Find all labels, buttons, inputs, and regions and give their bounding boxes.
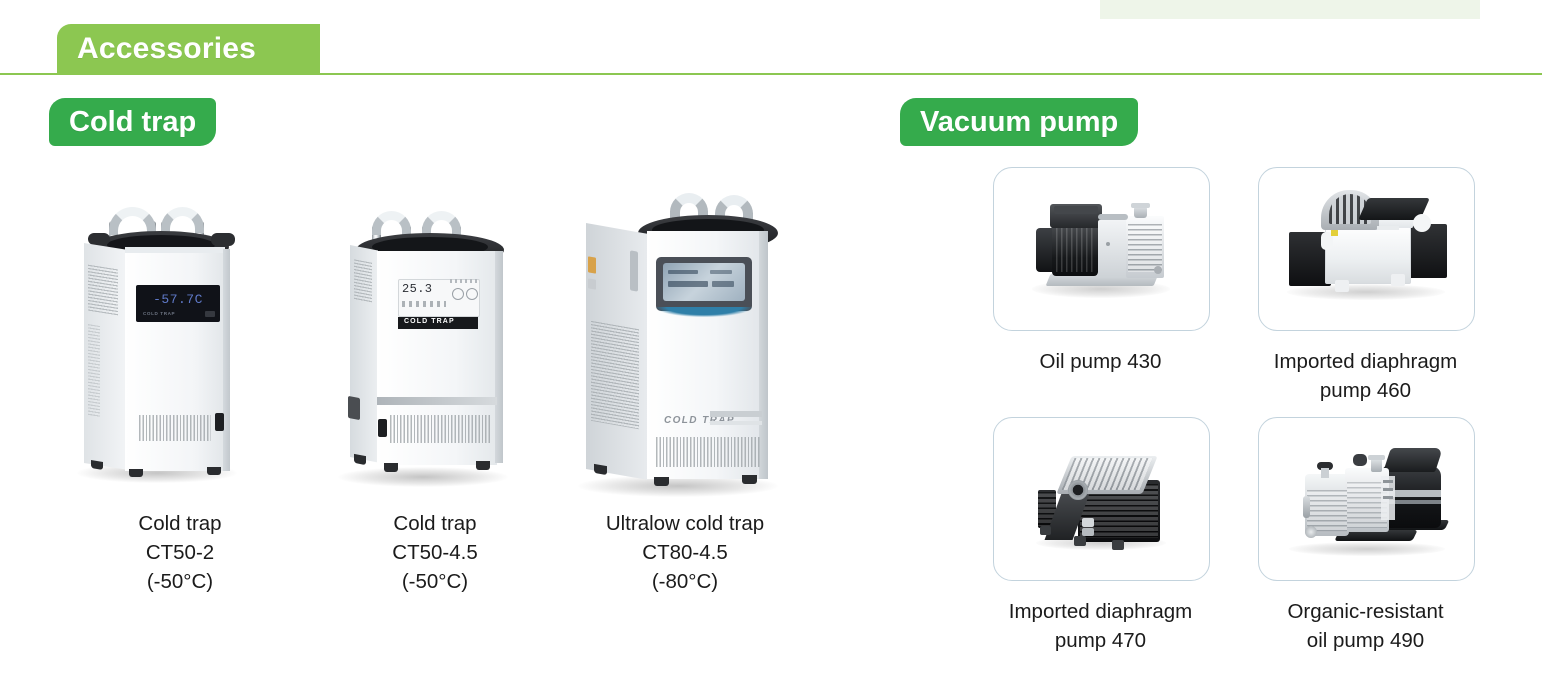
vacuum-pump-card-1[interactable] bbox=[1258, 167, 1475, 331]
cold-trap-product-group: -57.7C COLD TRAP Cold trap CT50-2 (-50°C… bbox=[30, 175, 840, 615]
cold-trap-2-name: Ultralow cold trap bbox=[560, 509, 810, 538]
vacuum-pump-0-line1: Oil pump 430 bbox=[993, 347, 1208, 376]
cold-trap-0-temp: (-50°C) bbox=[55, 567, 305, 596]
section-pill-vacuum-pump-label: Vacuum pump bbox=[920, 106, 1118, 139]
vacuum-pump-3-line2: oil pump 490 bbox=[1258, 626, 1473, 655]
cold-trap-product-0-caption: Cold trap CT50-2 (-50°C) bbox=[55, 509, 305, 596]
cold-trap-product-2[interactable]: COLD TRAP Ultralow cold trap CT80-4.5 (-… bbox=[560, 175, 810, 615]
vacuum-pump-2-line2: pump 470 bbox=[993, 626, 1208, 655]
vacuum-pump-3-line1: Organic-resistant bbox=[1258, 597, 1473, 626]
vacuum-pump-card-3[interactable] bbox=[1258, 417, 1475, 581]
cold-trap-0-display: -57.7C bbox=[140, 289, 216, 309]
section-pill-cold-trap-label: Cold trap bbox=[69, 106, 196, 139]
vacuum-pump-1-line2: pump 460 bbox=[1258, 376, 1473, 405]
cold-trap-1-name: Cold trap bbox=[310, 509, 560, 538]
vacuum-pump-product-2[interactable]: Imported diaphragm pump 470 bbox=[993, 417, 1208, 655]
vacuum-pump-product-1[interactable]: Imported diaphragm pump 460 bbox=[1258, 167, 1473, 405]
organic-resistant-oil-pump-icon bbox=[1259, 418, 1474, 580]
cold-trap-0-model: CT50-2 bbox=[55, 538, 305, 567]
vacuum-pump-product-0-caption: Oil pump 430 bbox=[993, 347, 1208, 376]
accessories-banner: Accessories bbox=[57, 24, 320, 74]
cold-trap-0-name: Cold trap bbox=[55, 509, 305, 538]
vacuum-pump-product-3-caption: Organic-resistant oil pump 490 bbox=[1258, 597, 1473, 655]
vacuum-pump-1-line1: Imported diaphragm bbox=[1258, 347, 1473, 376]
vacuum-pump-card-2[interactable] bbox=[993, 417, 1210, 581]
accessories-title: Accessories bbox=[77, 32, 256, 66]
cold-trap-product-2-caption: Ultralow cold trap CT80-4.5 (-80°C) bbox=[560, 509, 810, 596]
cold-trap-compact-icon: -57.7C COLD TRAP bbox=[55, 175, 305, 505]
cold-trap-0-brand: COLD TRAP bbox=[143, 311, 175, 316]
cold-trap-ultralow-icon: COLD TRAP bbox=[560, 175, 810, 505]
diaphragm-pump-finned-icon bbox=[994, 418, 1209, 580]
cold-trap-1-display: 25.3 bbox=[402, 282, 448, 299]
vacuum-pump-product-2-caption: Imported diaphragm pump 470 bbox=[993, 597, 1208, 655]
cold-trap-1-brand: COLD TRAP bbox=[404, 318, 455, 325]
vacuum-pump-product-0[interactable]: Oil pump 430 bbox=[993, 167, 1208, 376]
cold-trap-product-1-caption: Cold trap CT50-4.5 (-50°C) bbox=[310, 509, 560, 596]
section-pill-vacuum-pump: Vacuum pump bbox=[900, 98, 1138, 146]
cold-trap-2-model: CT80-4.5 bbox=[560, 538, 810, 567]
diaphragm-pump-wide-icon bbox=[1259, 168, 1474, 330]
cold-trap-1-model: CT50-4.5 bbox=[310, 538, 560, 567]
rotary-vane-oil-pump-icon bbox=[994, 168, 1209, 330]
vacuum-pump-product-grid: Oil pump 430 bbox=[993, 167, 1483, 647]
cold-trap-product-1[interactable]: 25.3 COLD TRAP Cold trap CT50-4.5 (-50°C… bbox=[310, 175, 560, 615]
vacuum-pump-product-3[interactable]: Organic-resistant oil pump 490 bbox=[1258, 417, 1473, 655]
top-decorative-band bbox=[1100, 0, 1480, 19]
cold-trap-1-temp: (-50°C) bbox=[310, 567, 560, 596]
vacuum-pump-product-1-caption: Imported diaphragm pump 460 bbox=[1258, 347, 1473, 405]
cold-trap-2-temp: (-80°C) bbox=[560, 567, 810, 596]
vacuum-pump-card-0[interactable] bbox=[993, 167, 1210, 331]
cold-trap-benchtop-icon: 25.3 COLD TRAP bbox=[310, 175, 560, 505]
cold-trap-product-0[interactable]: -57.7C COLD TRAP Cold trap CT50-2 (-50°C… bbox=[55, 175, 305, 615]
section-pill-cold-trap: Cold trap bbox=[49, 98, 216, 146]
vacuum-pump-2-line1: Imported diaphragm bbox=[993, 597, 1208, 626]
